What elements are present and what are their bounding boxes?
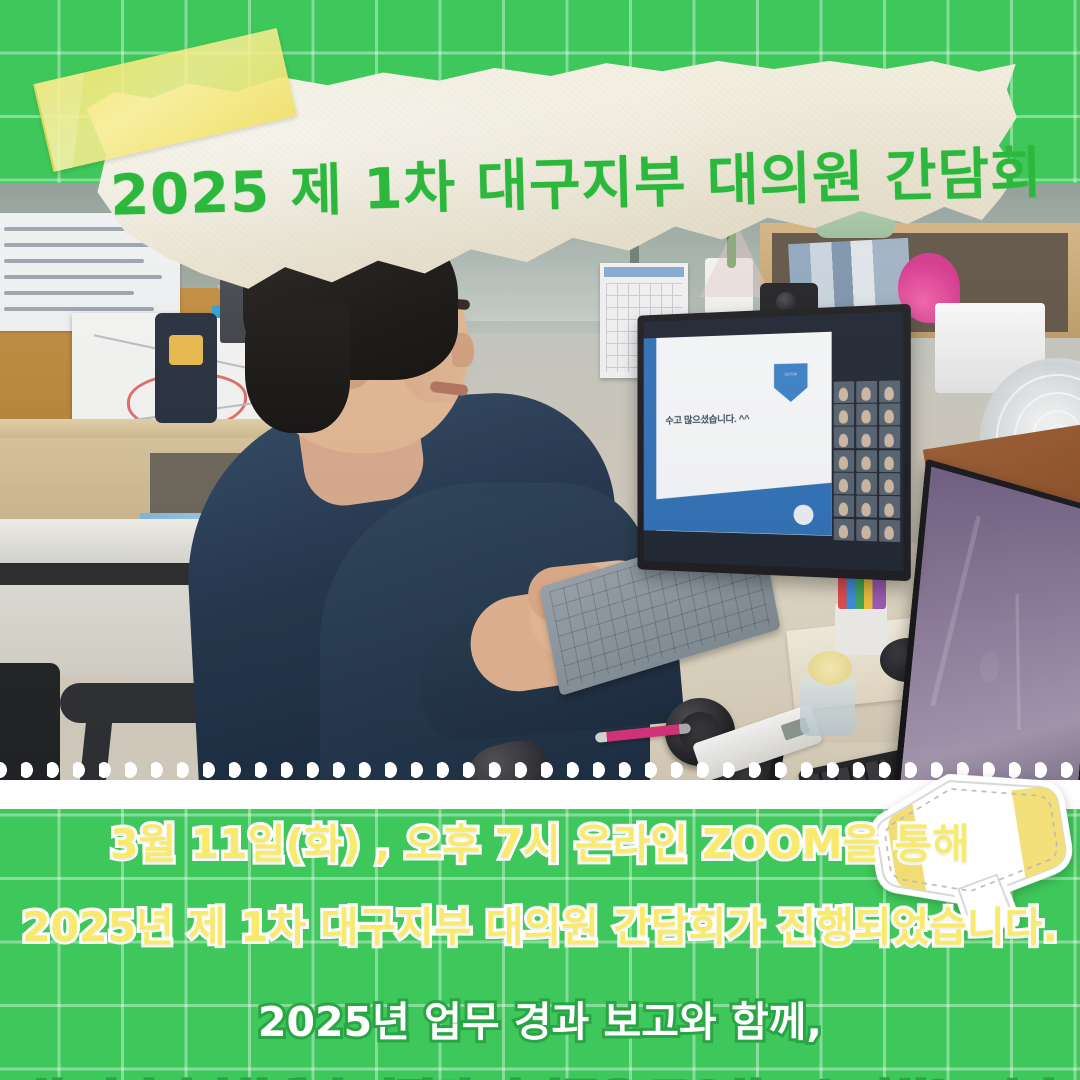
participant-tile — [856, 381, 877, 403]
photo-scene: 대구지부 수고 많으셨습니다. ^^ — [0, 183, 1080, 809]
caption-block: 3월 11일(화) , 오후 7시 온라인 ZOOM을 통해 2025년 제 1… — [0, 824, 1080, 1080]
participant-tile — [833, 381, 854, 403]
participant-tile — [879, 380, 901, 402]
slide-message: 수고 많으셨습니다. ^^ — [665, 409, 796, 427]
primary-monitor: 대구지부 수고 많으셨습니다. ^^ — [637, 304, 910, 581]
participant-tile — [879, 519, 901, 541]
zoom-participant-grid — [832, 379, 901, 543]
participant-tile — [856, 496, 877, 518]
participant-tile — [856, 450, 877, 472]
caption-line-3: 2025년 업무 경과 보고와 함께, — [0, 1002, 1080, 1043]
participant-tile — [879, 450, 901, 472]
participant-tile — [833, 518, 854, 540]
slide-left-bar — [644, 338, 656, 530]
monitor-screen: 대구지부 수고 많으셨습니다. ^^ — [644, 311, 904, 571]
participant-tile — [833, 450, 854, 471]
participant-tile — [856, 519, 877, 541]
participant-tile — [879, 496, 901, 518]
pen-holder — [835, 603, 887, 655]
participant-tile — [833, 473, 854, 495]
participant-tile — [879, 473, 901, 495]
promo-card: 대구지부 수고 많으셨습니다. ^^ — [0, 0, 1080, 1080]
phone-stand — [155, 313, 217, 423]
participant-tile — [833, 496, 854, 518]
participant-tile — [856, 473, 877, 495]
participant-tile — [833, 404, 854, 426]
participant-tile — [879, 403, 901, 425]
event-photo: 대구지부 수고 많으셨습니다. ^^ — [0, 183, 1080, 809]
caption-line-2: 2025년 제 1차 대구지부 대의원 간담회가 진행되었습니다. — [0, 907, 1080, 948]
logo-caption: 대구지부 — [774, 372, 808, 377]
caption-line-1: 3월 11일(화) , 오후 7시 온라인 ZOOM을 통해 — [0, 824, 1080, 865]
person-hair-back — [245, 303, 350, 433]
slide-dot — [794, 504, 814, 525]
participant-tile — [879, 427, 901, 449]
participant-tile — [856, 427, 877, 449]
participant-tile — [833, 427, 854, 448]
participant-tile — [856, 404, 877, 426]
presentation-slide: 대구지부 수고 많으셨습니다. ^^ — [644, 332, 832, 535]
flower — [808, 651, 852, 685]
organization-shield-logo: 대구지부 — [774, 363, 808, 402]
glass-vase — [800, 678, 855, 736]
